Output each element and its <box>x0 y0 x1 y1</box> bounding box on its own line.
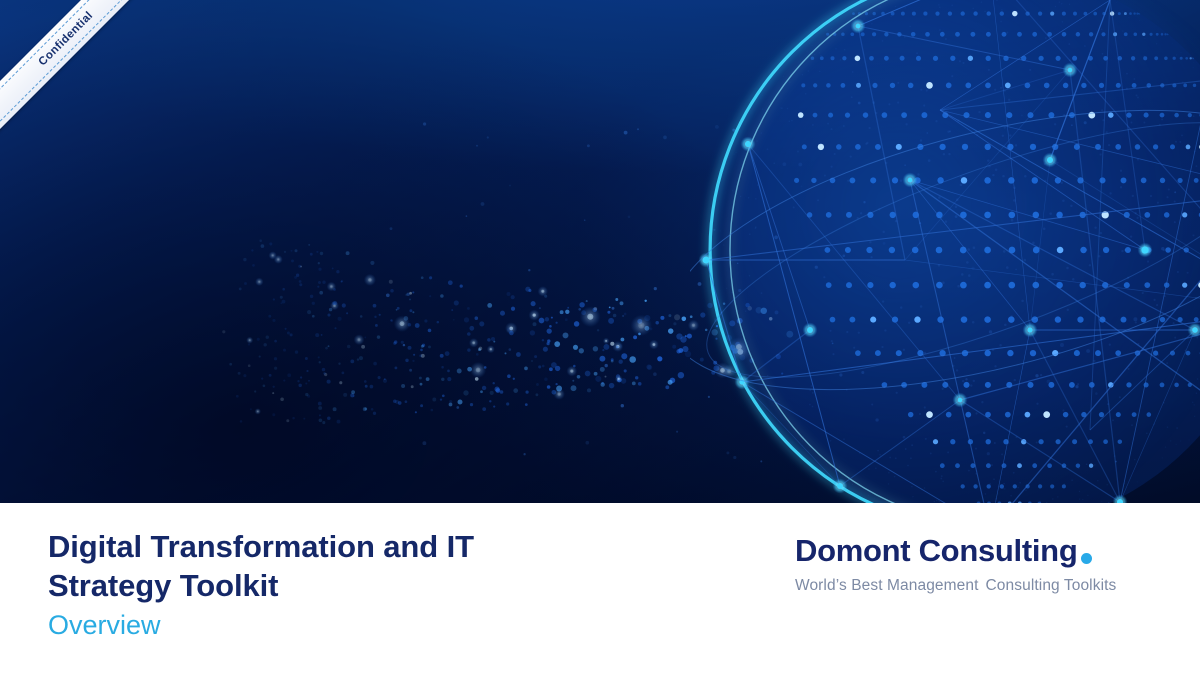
page-subtitle: Overview <box>48 608 688 643</box>
hero-banner: Confidential <box>0 0 1200 503</box>
logo-tagline-part-2: Consulting Toolkits <box>986 577 1117 594</box>
globe-graphic <box>690 0 1200 503</box>
company-logo: Domont Consulting World’s Best Managemen… <box>795 535 1165 595</box>
logo-tagline: World’s Best ManagementConsulting Toolki… <box>795 577 1165 595</box>
slide-footer: Digital Transformation and IT Strategy T… <box>0 503 1200 675</box>
presentation-slide: Confidential Digital Transformation and … <box>0 0 1200 675</box>
globe-svg <box>690 0 1200 503</box>
page-title-line-2: Strategy Toolkit <box>48 566 688 605</box>
logo-name-row: Domont Consulting <box>795 535 1165 566</box>
logo-tagline-part-1: World’s Best Management <box>795 577 979 594</box>
page-title-line-1: Digital Transformation and IT <box>48 527 688 566</box>
logo-dot-icon <box>1081 553 1092 564</box>
slide-title-block: Digital Transformation and IT Strategy T… <box>48 527 688 643</box>
logo-company-name: Domont Consulting <box>795 535 1077 566</box>
